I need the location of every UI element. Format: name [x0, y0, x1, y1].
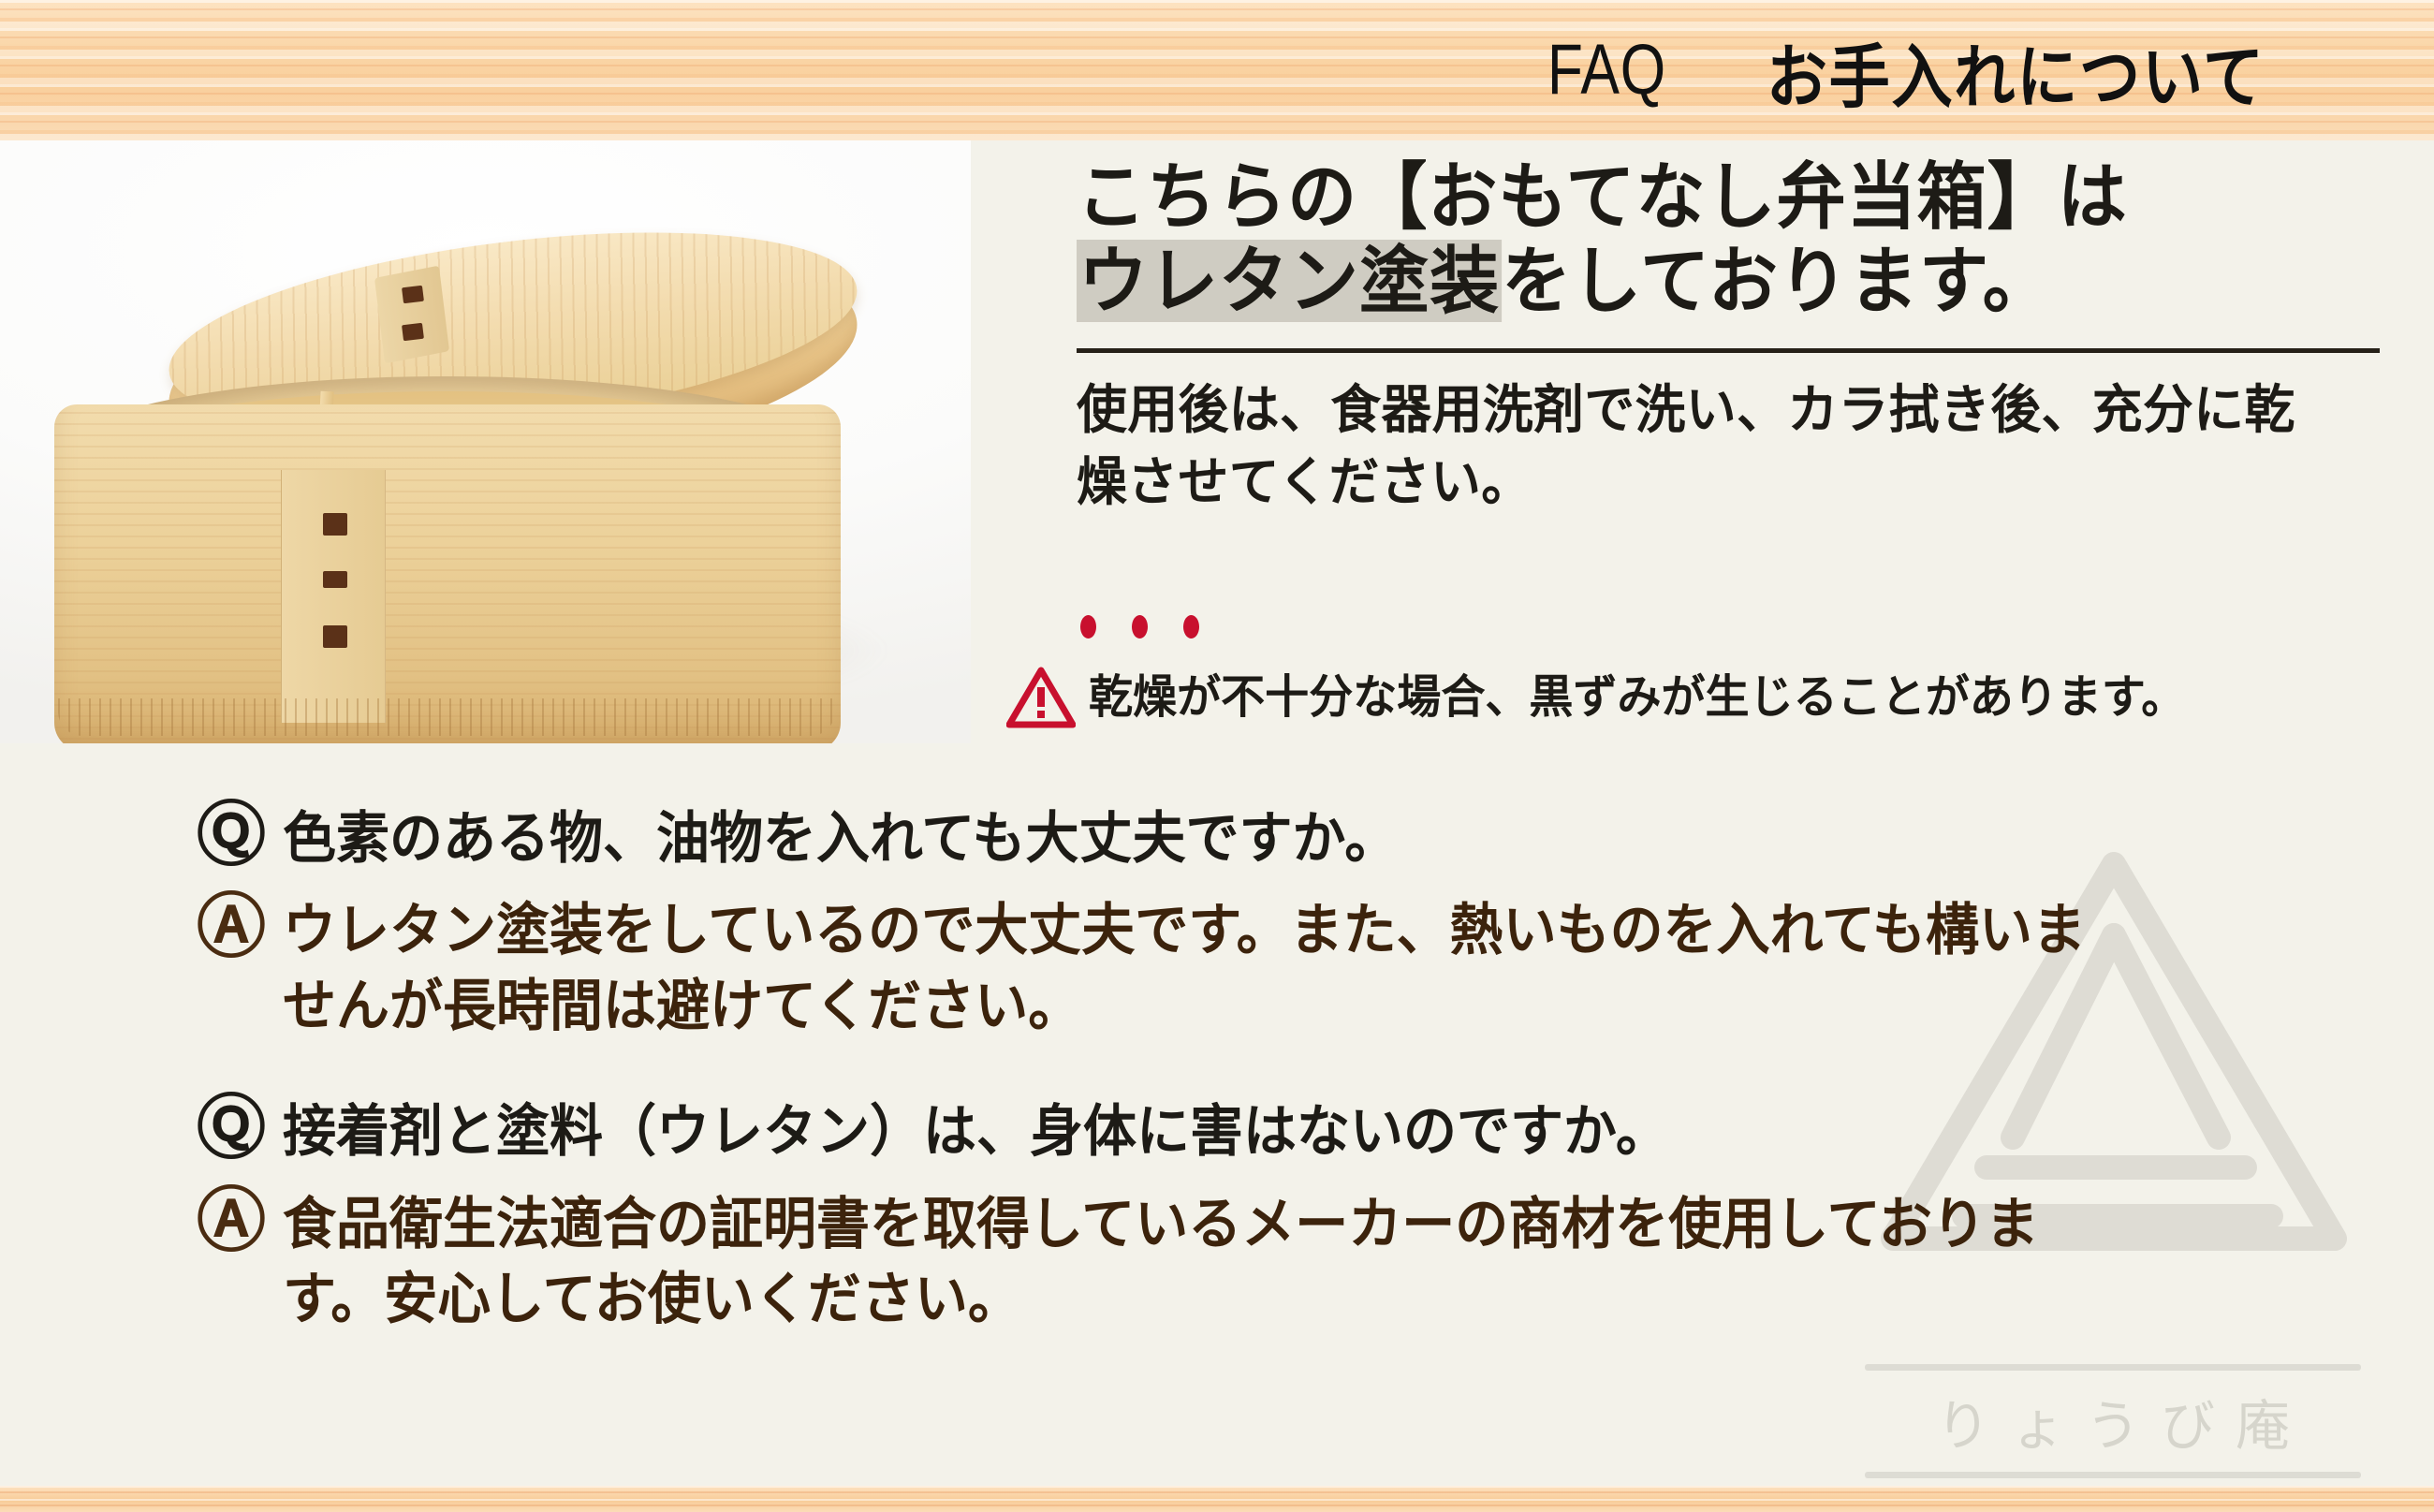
- emphasis-dot: [1132, 615, 1148, 639]
- qa-section: Ⓠ 色素のある物、油物を入れても大丈夫ですか。 Ⓐ ウレタン塗装をしているので大…: [197, 801, 2350, 1344]
- emphasis-dot: [1183, 615, 1199, 639]
- bento-body-stitch-2: [323, 571, 347, 588]
- emphasis-dots: [1080, 615, 1296, 639]
- page-header: FAQ お手入れについて: [0, 0, 2434, 140]
- brand-name: りょうび庵: [1865, 1371, 2361, 1472]
- answer-text-2: 食品衛生法適合の証明書を取得しているメーカーの商材を使用しております。安心してお…: [283, 1187, 2115, 1338]
- qa-row-answer-2: Ⓐ 食品衛生法適合の証明書を取得しているメーカーの商材を使用しております。安心し…: [197, 1187, 2350, 1338]
- main-heading: こちらの【おもてなし弁当箱】は ウレタン塗装をしております。: [1077, 154, 2322, 324]
- brand-rule-top: [1865, 1364, 2361, 1371]
- bento-body-stitch-1: [323, 513, 347, 536]
- intro-column: こちらの【おもてなし弁当箱】は ウレタン塗装をしております。 使用後は、食器用洗…: [1077, 154, 2387, 518]
- bento-bottom-hatching: [58, 698, 835, 736]
- faq-page: FAQ お手入れについて こちらの【おもてなし弁当箱】は ウレタン塗装をしており…: [0, 0, 2434, 1512]
- warning-triangle-icon: [1006, 667, 1076, 728]
- bento-lid-seam: [374, 266, 449, 364]
- question-marker-icon: Ⓠ: [197, 1094, 283, 1164]
- question-marker-icon: Ⓠ: [197, 801, 283, 871]
- bottom-wood-band: [0, 1486, 2434, 1512]
- qa-row-answer-1: Ⓐ ウレタン塗装をしているので大丈夫です。また、熱いものを入れても構いませんが長…: [197, 893, 2350, 1044]
- header-subtitle: お手入れについて: [1767, 43, 2265, 112]
- warning-text: 乾燥が不十分な場合、黒ずみが生じることがあります。: [1089, 675, 2185, 721]
- bento-body: [54, 404, 841, 743]
- faq-label: FAQ: [1547, 35, 1666, 106]
- question-text-1: 色素のある物、油物を入れても大丈夫ですか。: [283, 801, 1398, 876]
- qa-row-question-2: Ⓠ 接着剤と塗料（ウレタン）は、身体に害はないのですか。: [197, 1094, 2350, 1169]
- answer-marker-icon: Ⓐ: [197, 893, 283, 962]
- heading-divider: [1077, 348, 2380, 353]
- care-instructions: 使用後は、食器用洗剤で洗い、カラ拭き後、充分に乾燥させてください。: [1077, 374, 2335, 519]
- heading-line-2: ウレタン塗装をしております。: [1077, 239, 2322, 323]
- question-text-2: 接着剤と塗料（ウレタン）は、身体に害はないのですか。: [283, 1094, 1669, 1169]
- brand-watermark: りょうび庵: [1865, 1364, 2361, 1478]
- bento-lid-stitch-2: [402, 323, 424, 342]
- qa-row-question-1: Ⓠ 色素のある物、油物を入れても大丈夫ですか。: [197, 801, 2350, 876]
- emphasis-dot: [1080, 615, 1096, 639]
- magewappa-bento-box-photo: [0, 140, 971, 743]
- heading-line-1: こちらの【おもてなし弁当箱】は: [1077, 154, 2322, 239]
- heading-line-2-rest: をしております。: [1502, 240, 2053, 322]
- bento-lid-stitch-1: [402, 286, 424, 304]
- answer-marker-icon: Ⓐ: [197, 1187, 283, 1256]
- bento-body-seam: [281, 470, 386, 723]
- brand-rule-bottom: [1865, 1472, 2361, 1478]
- warning-row: 乾燥が不十分な場合、黒ずみが生じることがあります。: [1006, 667, 2411, 728]
- heading-highlight: ウレタン塗装: [1077, 240, 1502, 322]
- answer-text-1: ウレタン塗装をしているので大丈夫です。また、熱いものを入れても構いませんが長時間…: [283, 893, 2133, 1044]
- bento-body-stitch-3: [323, 625, 347, 648]
